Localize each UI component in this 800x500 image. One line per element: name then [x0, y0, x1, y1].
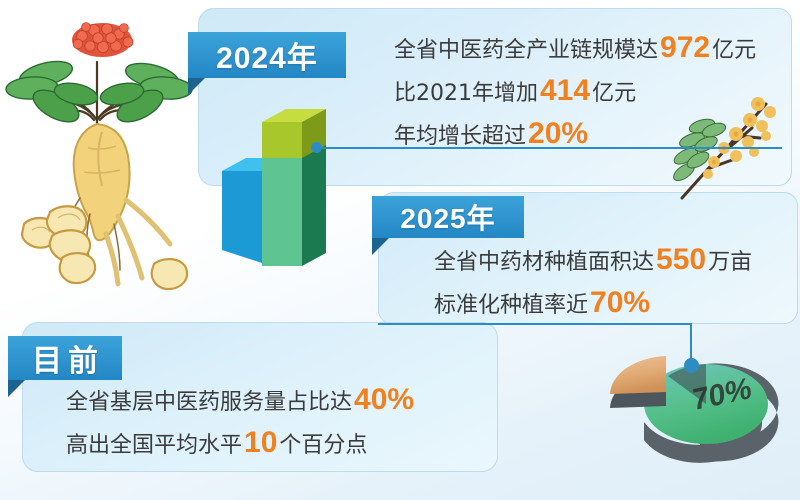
pie-slice-30 — [610, 356, 666, 408]
statement-text: 万亩 — [708, 250, 752, 275]
highlight-value: 70% — [588, 286, 652, 319]
statement-text: 亿元 — [592, 81, 636, 106]
highlight-value: 972 — [658, 31, 712, 64]
statement-text: 高出全国平均水平 — [66, 433, 242, 458]
bar-chart-3d — [218, 108, 348, 268]
connector-dot-pie — [684, 358, 699, 373]
statement-line: 全省基层中医药服务量占比达40% — [66, 380, 416, 423]
statement-line: 高出全国平均水平10个百分点 — [66, 423, 416, 466]
statement-line: 比2021年增加414亿元 — [394, 71, 756, 114]
statement-text: 亿元 — [712, 38, 756, 63]
banner-current: 目前 — [8, 336, 122, 380]
bar-2024-base — [262, 143, 326, 266]
highlight-value: 10 — [242, 426, 279, 459]
statement-text: 比2021年增加 — [394, 81, 538, 106]
text-block-2025: 全省中药材种植面积达550万亩标准化种植率近70% — [434, 240, 752, 326]
banner-2025: 2025年 — [372, 196, 524, 238]
banner-2024: 2024年 — [188, 32, 346, 78]
statement-text: 全省基层中医药服务量占比达 — [66, 390, 352, 415]
statement-line: 标准化种植率近70% — [434, 283, 752, 326]
highlight-value: 20% — [526, 117, 590, 150]
statement-text: 年均增长超过 — [394, 124, 526, 149]
highlight-value: 414 — [538, 74, 592, 107]
statement-line: 全省中医药全产业链规模达972亿元 — [394, 28, 756, 71]
connector-bar-to-2024 — [322, 147, 782, 149]
statement-line: 年均增长超过20% — [394, 114, 756, 157]
highlight-value: 550 — [654, 243, 708, 276]
infographic-canvas: 70% 2024年 2025年 目前 全省中医药全产业链规模达972亿元比202… — [0, 0, 800, 500]
connector-2025-baseline — [378, 323, 692, 325]
connector-dot-bar — [311, 142, 322, 153]
statement-line: 全省中药材种植面积达550万亩 — [434, 240, 752, 283]
pie-chart-3d — [588, 330, 788, 490]
text-block-2024: 全省中医药全产业链规模达972亿元比2021年增加414亿元年均增长超过20% — [394, 28, 756, 157]
statement-text: 全省中医药全产业链规模达 — [394, 38, 658, 63]
statement-text: 个百分点 — [279, 433, 367, 458]
ginseng-berries — [72, 23, 133, 57]
text-block-current: 全省基层中医药服务量占比达40%高出全国平均水平10个百分点 — [66, 380, 416, 466]
highlight-value: 40% — [352, 383, 416, 416]
ginseng-plant-illustration — [2, 2, 200, 290]
statement-text: 标准化种植率近 — [434, 293, 588, 318]
statement-text: 全省中药材种植面积达 — [434, 250, 654, 275]
